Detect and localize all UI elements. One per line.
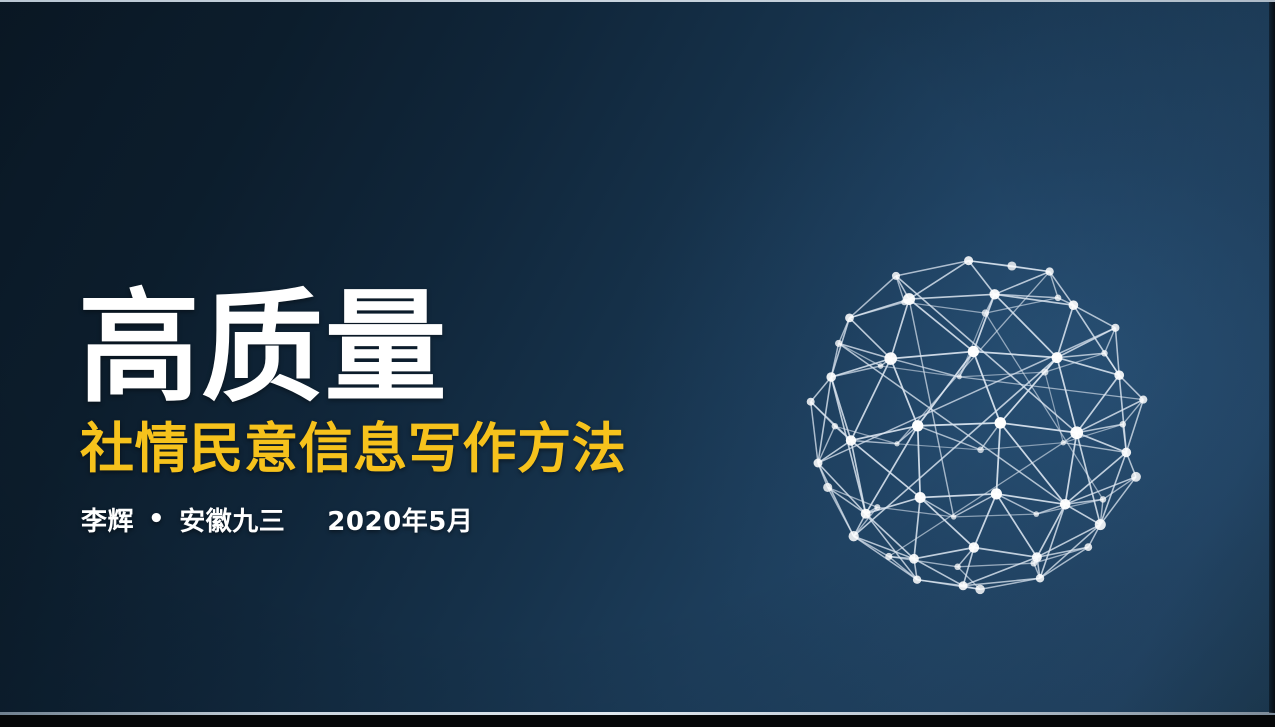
page-title: 高质量 — [78, 284, 718, 413]
title-text-block: 高质量 社情民意信息写作方法 李辉 • 安徽九三 2020年5月 — [78, 284, 718, 538]
byline-date: 2020年5月 — [327, 501, 473, 538]
byline-author: 李辉 — [81, 501, 134, 538]
title-slide: 高质量 社情民意信息写作方法 李辉 • 安徽九三 2020年5月 — [0, 0, 1275, 727]
top-edge-rule — [0, 0, 1275, 2]
bottom-letterbox — [0, 715, 1275, 727]
byline: 李辉 • 安徽九三 2020年5月 — [81, 501, 718, 538]
network-sphere-svg — [795, 238, 1160, 608]
network-sphere-graphic — [795, 238, 1160, 608]
byline-organization: 安徽九三 — [179, 501, 285, 538]
right-edge-shade — [1269, 2, 1275, 713]
page-subtitle: 社情民意信息写作方法 — [80, 419, 718, 478]
sphere-edges — [811, 261, 1144, 590]
byline-separator-dot: • — [148, 506, 165, 532]
